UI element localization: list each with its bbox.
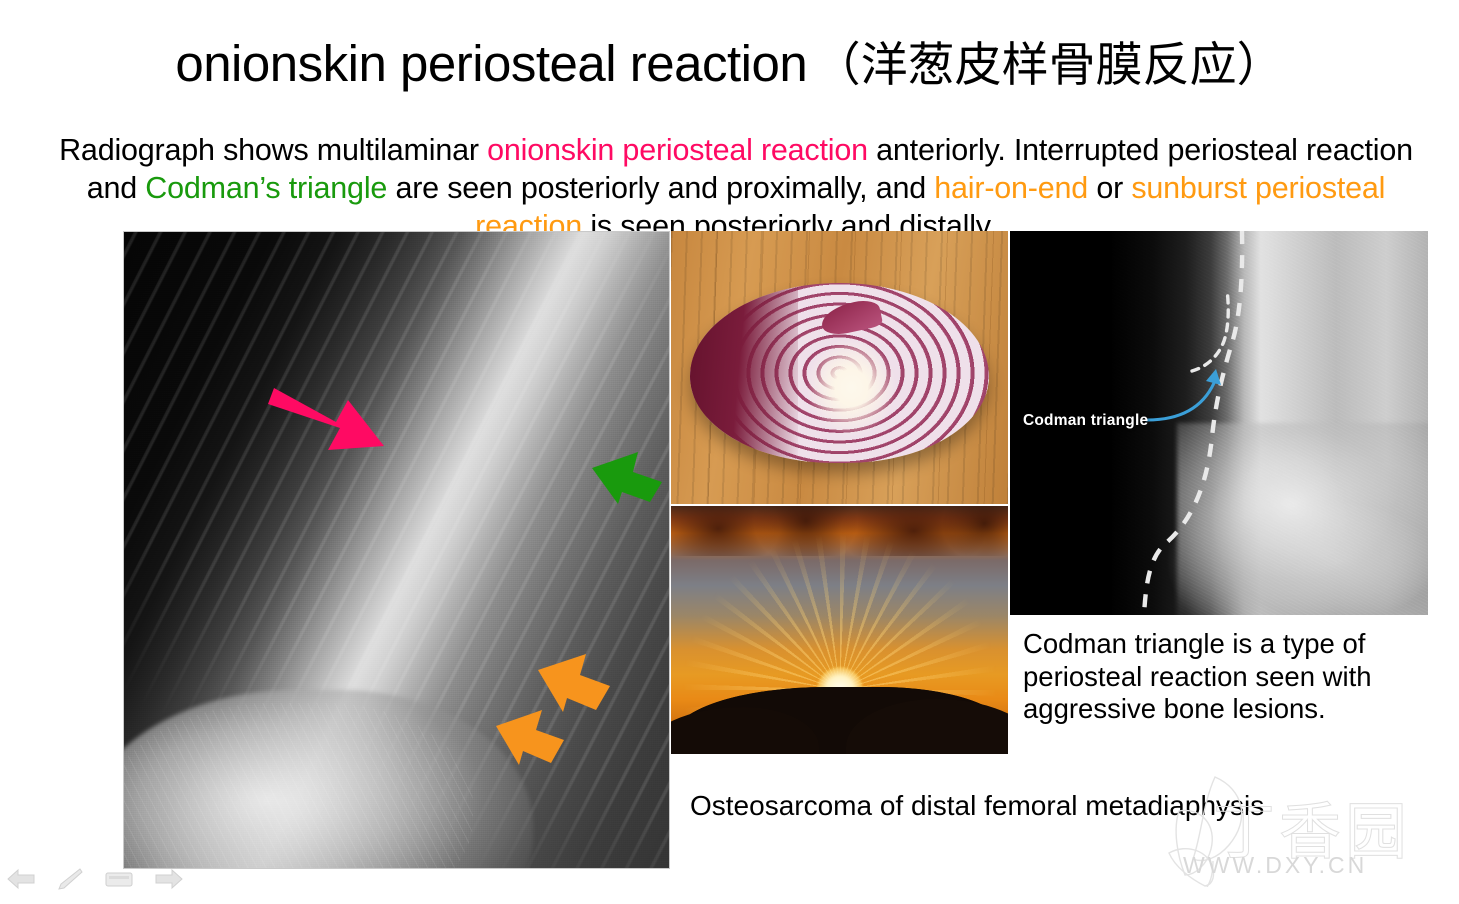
slide-menu-button[interactable] — [104, 868, 134, 895]
page-title-chinese: （洋葱皮样骨膜反应） — [814, 38, 1284, 93]
lede-text-1: Radiograph shows multilaminar — [59, 133, 487, 167]
term-codman-triangle: Codman’s triangle — [145, 171, 387, 205]
osteosarcoma-caption: Osteosarcoma of distal femoral metadiaph… — [690, 790, 1264, 822]
lede-text-3: are seen posteriorly and proximally, and — [387, 171, 934, 205]
onion-root — [819, 297, 884, 338]
film-grain — [124, 232, 669, 868]
dxy-flower-logo-icon — [1155, 767, 1275, 887]
radiograph-codman-triangle: Codman triangle — [1010, 231, 1428, 615]
previous-slide-button[interactable] — [6, 868, 36, 895]
watermark-url: WWW.DXY.CN — [1183, 852, 1367, 879]
rectangle-icon — [104, 868, 134, 890]
codman-spur-dashed — [1192, 289, 1228, 371]
arrow-left-icon — [6, 868, 36, 890]
pink-arrow-onionskin — [266, 366, 391, 456]
onion-photo — [671, 231, 1008, 504]
term-hair-on-end: hair-on-end — [934, 171, 1088, 205]
slideshow-toolbar[interactable] — [6, 867, 184, 896]
next-slide-button[interactable] — [154, 868, 184, 895]
page-title-english: onionskin periosteal reaction — [175, 35, 807, 92]
pen-icon — [56, 867, 84, 891]
orange-arrow-sunburst-2 — [492, 706, 570, 768]
arrow-right-icon — [154, 868, 184, 890]
watermark: 丁香园 WWW.DXY.CN — [1155, 763, 1455, 893]
tumour-outline-dashed — [1144, 231, 1242, 615]
pen-tool-button[interactable] — [56, 867, 84, 896]
radiograph-onionskin — [123, 231, 670, 869]
green-arrow-codman — [588, 446, 666, 508]
halved-red-onion — [690, 283, 990, 463]
codman-leader-line — [1147, 383, 1214, 420]
sunburst-photo — [671, 506, 1008, 754]
description-paragraph: Radiograph shows multilaminar onionskin … — [50, 131, 1422, 245]
codman-caption: Codman triangle is a type of periosteal … — [1023, 628, 1433, 726]
lede-text-4: or — [1088, 171, 1131, 205]
term-onionskin: onionskin periosteal reaction — [487, 133, 868, 167]
codman-triangle-annotation-label: Codman triangle — [1023, 412, 1148, 430]
codman-arrowhead — [1206, 369, 1221, 385]
page-title: onionskin periosteal reaction （洋葱皮样骨膜反应） — [0, 26, 1459, 95]
